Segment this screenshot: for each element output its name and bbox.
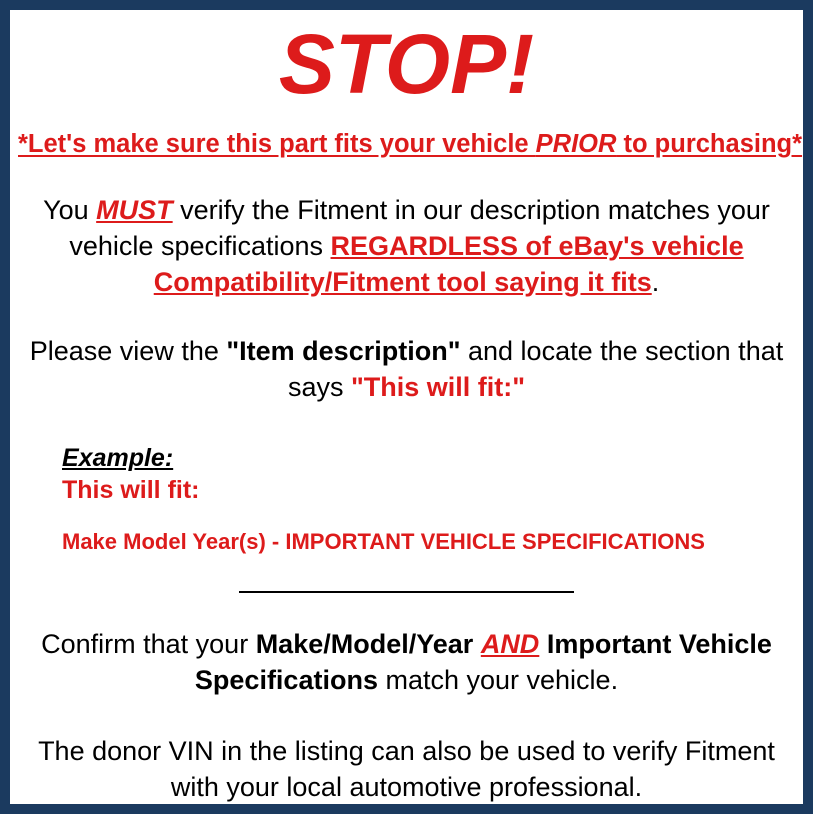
- confirm-space-1: [473, 629, 481, 659]
- emphasis-and: AND: [481, 629, 540, 659]
- paragraph-view-description: Please view the "Item description" and l…: [18, 300, 795, 405]
- must-end-text: .: [652, 267, 660, 297]
- divider-wrap: [18, 555, 795, 601]
- subtitle-emphasis-prior: PRIOR: [536, 130, 617, 158]
- subtitle-banner: *Let's make sure this part fits your veh…: [18, 106, 795, 159]
- confirm-lead-text: Confirm that your: [41, 629, 256, 659]
- emphasis-this-will-fit: "This will fit:": [351, 372, 525, 402]
- example-label-row: Example:: [62, 443, 795, 474]
- example-block: Example: This will fit: Make Model Year(…: [18, 405, 795, 555]
- paragraph-confirm: Confirm that your Make/Model/Year AND Im…: [18, 601, 795, 698]
- example-fit-heading: This will fit:: [62, 475, 795, 505]
- example-label: Example:: [62, 443, 173, 474]
- paragraph-must-verify: You MUST verify the Fitment in our descr…: [18, 159, 795, 300]
- page-title: STOP!: [18, 10, 795, 106]
- horizontal-divider: [239, 591, 574, 593]
- example-spec-line: Make Model Year(s) - IMPORTANT VEHICLE S…: [62, 505, 795, 555]
- emphasis-must: MUST: [96, 195, 173, 225]
- subtitle-text-part1: *Let's make sure this part fits your veh…: [18, 130, 536, 158]
- subtitle-text-part2: to purchasing*: [616, 130, 802, 158]
- thank-you-message: Thank you for confirming Fitment!: [18, 806, 795, 814]
- confirm-end-text: match your vehicle.: [378, 665, 618, 695]
- must-lead-text: You: [43, 195, 96, 225]
- notice-inner-body: STOP! *Let's make sure this part fits yo…: [10, 10, 803, 804]
- confirm-space-2: [539, 629, 547, 659]
- emphasis-make-model-year: Make/Model/Year: [256, 629, 474, 659]
- paragraph-donor-vin: The donor VIN in the listing can also be…: [18, 698, 795, 805]
- fitment-notice-card: STOP! *Let's make sure this part fits yo…: [0, 0, 813, 814]
- view-lead-text: Please view the: [30, 336, 227, 366]
- emphasis-item-description: "Item description": [226, 336, 460, 366]
